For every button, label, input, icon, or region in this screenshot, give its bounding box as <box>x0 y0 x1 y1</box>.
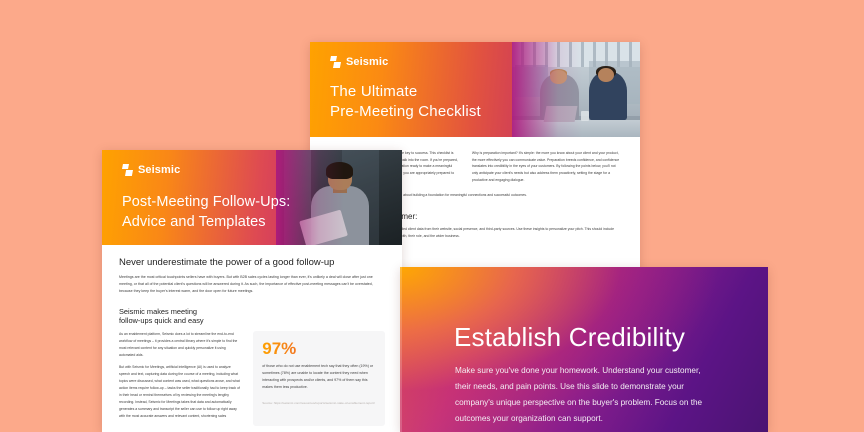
followup-stat-callout: 97% of those who do not use enablement t… <box>253 331 385 426</box>
document-collage-canvas: Seismic The UltimatePre-Meeting Checklis… <box>0 0 864 432</box>
seismic-logo: Seismic <box>122 164 180 176</box>
seismic-logo-text: Seismic <box>346 56 388 68</box>
followup-body: Never underestimate the power of a good … <box>102 245 402 426</box>
checklist-title-line2: Pre-Meeting Checklist <box>330 103 481 120</box>
seismic-logo-icon <box>122 164 133 176</box>
seismic-logo: Seismic <box>330 56 388 68</box>
checklist-header-banner: Seismic The UltimatePre-Meeting Checklis… <box>310 42 640 137</box>
followup-title-line2: Advice and Templates <box>122 214 266 230</box>
followup-title-line1: Post-Meeting Follow-Ups: <box>122 194 290 210</box>
slide-left-edge-highlight <box>400 267 402 432</box>
followup-heading: Never underestimate the power of a good … <box>119 257 385 268</box>
stat-source-link[interactable]: Source: https://seismic.com/resources/re… <box>262 401 376 407</box>
followup-text-column: As an enablement platform, Seismic does … <box>119 331 242 426</box>
checklist-intro-right: Why is preparation important? It's simpl… <box>472 150 622 184</box>
followup-header-banner: Seismic Post-Meeting Follow-Ups:Advice a… <box>102 150 402 245</box>
followup-subheading: Seismic makes meetingfollow-ups quick an… <box>119 307 385 326</box>
stat-value: 97% <box>262 340 376 357</box>
credibility-title: Establish Credibility <box>454 322 685 353</box>
followup-paragraph-2: But with Seismic for Meetings, artificia… <box>119 364 242 419</box>
checklist-title: The UltimatePre-Meeting Checklist <box>330 82 481 123</box>
followup-paragraph-1: As an enablement platform, Seismic does … <box>119 331 242 359</box>
followup-content-columns: As an enablement platform, Seismic does … <box>119 331 385 426</box>
seismic-logo-text: Seismic <box>138 164 180 176</box>
credibility-body: Make sure you've done your homework. Und… <box>455 363 703 427</box>
followup-lede: Meetings are the most critical touchpoin… <box>119 274 385 296</box>
checklist-title-line1: The Ultimate <box>330 83 417 100</box>
followup-subheading-line1: Seismic makes meeting <box>119 307 197 316</box>
checklist-header-photo <box>512 42 640 137</box>
stat-description: of those who do not use enablement tech … <box>262 363 376 392</box>
followup-header-photo <box>276 150 402 245</box>
document-post-meeting-followups[interactable]: Seismic Post-Meeting Follow-Ups:Advice a… <box>102 150 402 432</box>
seismic-logo-icon <box>330 56 341 68</box>
followup-subheading-line2: follow-ups quick and easy <box>119 316 204 325</box>
followup-title: Post-Meeting Follow-Ups:Advice and Templ… <box>122 192 290 232</box>
slide-establish-credibility[interactable]: Establish Credibility Make sure you've d… <box>400 267 768 432</box>
